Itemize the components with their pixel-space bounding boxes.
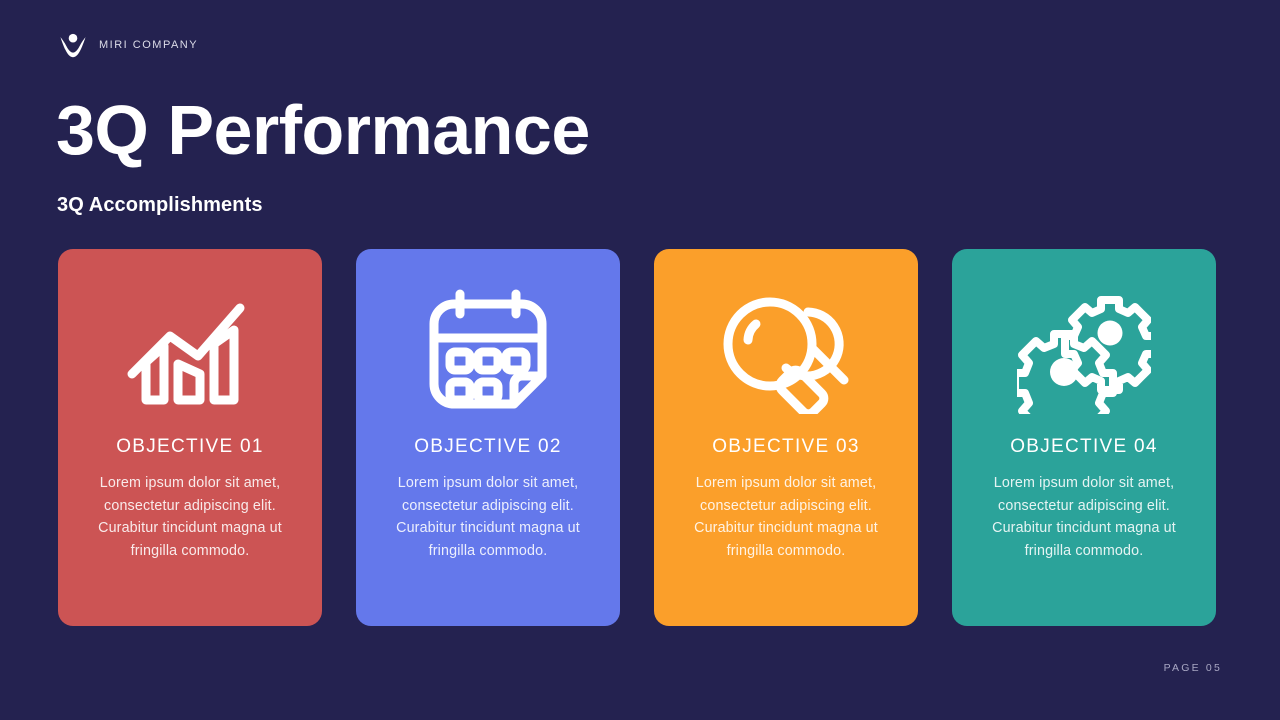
bar-chart-growth-icon [126, 289, 254, 414]
objective-card-title: OBJECTIVE 01 [116, 436, 264, 458]
page-title: 3Q Performance [56, 95, 590, 166]
page-subtitle: 3Q Accomplishments [57, 194, 263, 217]
objective-card-body: Lorem ipsum dolor sit amet, consectetur … [977, 472, 1192, 562]
objective-card-title: OBJECTIVE 03 [712, 436, 860, 458]
objective-card-1[interactable]: OBJECTIVE 01 Lorem ipsum dolor sit amet,… [58, 249, 322, 626]
objective-card-body: Lorem ipsum dolor sit amet, consectetur … [381, 472, 596, 562]
objective-card-body: Lorem ipsum dolor sit amet, consectetur … [83, 472, 298, 562]
objective-card-2[interactable]: OBJECTIVE 02 Lorem ipsum dolor sit amet,… [356, 249, 620, 626]
objective-card-3[interactable]: OBJECTIVE 03 Lorem ipsum dolor sit amet,… [654, 249, 918, 626]
brand-name-label: MIRI COMPANY [99, 39, 198, 51]
objective-card-title: OBJECTIVE 04 [1010, 436, 1158, 458]
objective-card-4[interactable]: OBJECTIVE 04 Lorem ipsum dolor sit amet,… [952, 249, 1216, 626]
brand-logo: MIRI COMPANY [58, 30, 198, 60]
person-figure-logo-icon [58, 31, 88, 59]
page-number-label: PAGE 05 [1164, 662, 1222, 674]
gears-settings-icon [1017, 289, 1151, 414]
magnifying-glass-search-icon [720, 289, 852, 414]
objective-card-body: Lorem ipsum dolor sit amet, consectetur … [679, 472, 894, 562]
calendar-icon [426, 289, 550, 414]
objective-card-row: OBJECTIVE 01 Lorem ipsum dolor sit amet,… [58, 249, 1216, 626]
objective-card-title: OBJECTIVE 02 [414, 436, 562, 458]
